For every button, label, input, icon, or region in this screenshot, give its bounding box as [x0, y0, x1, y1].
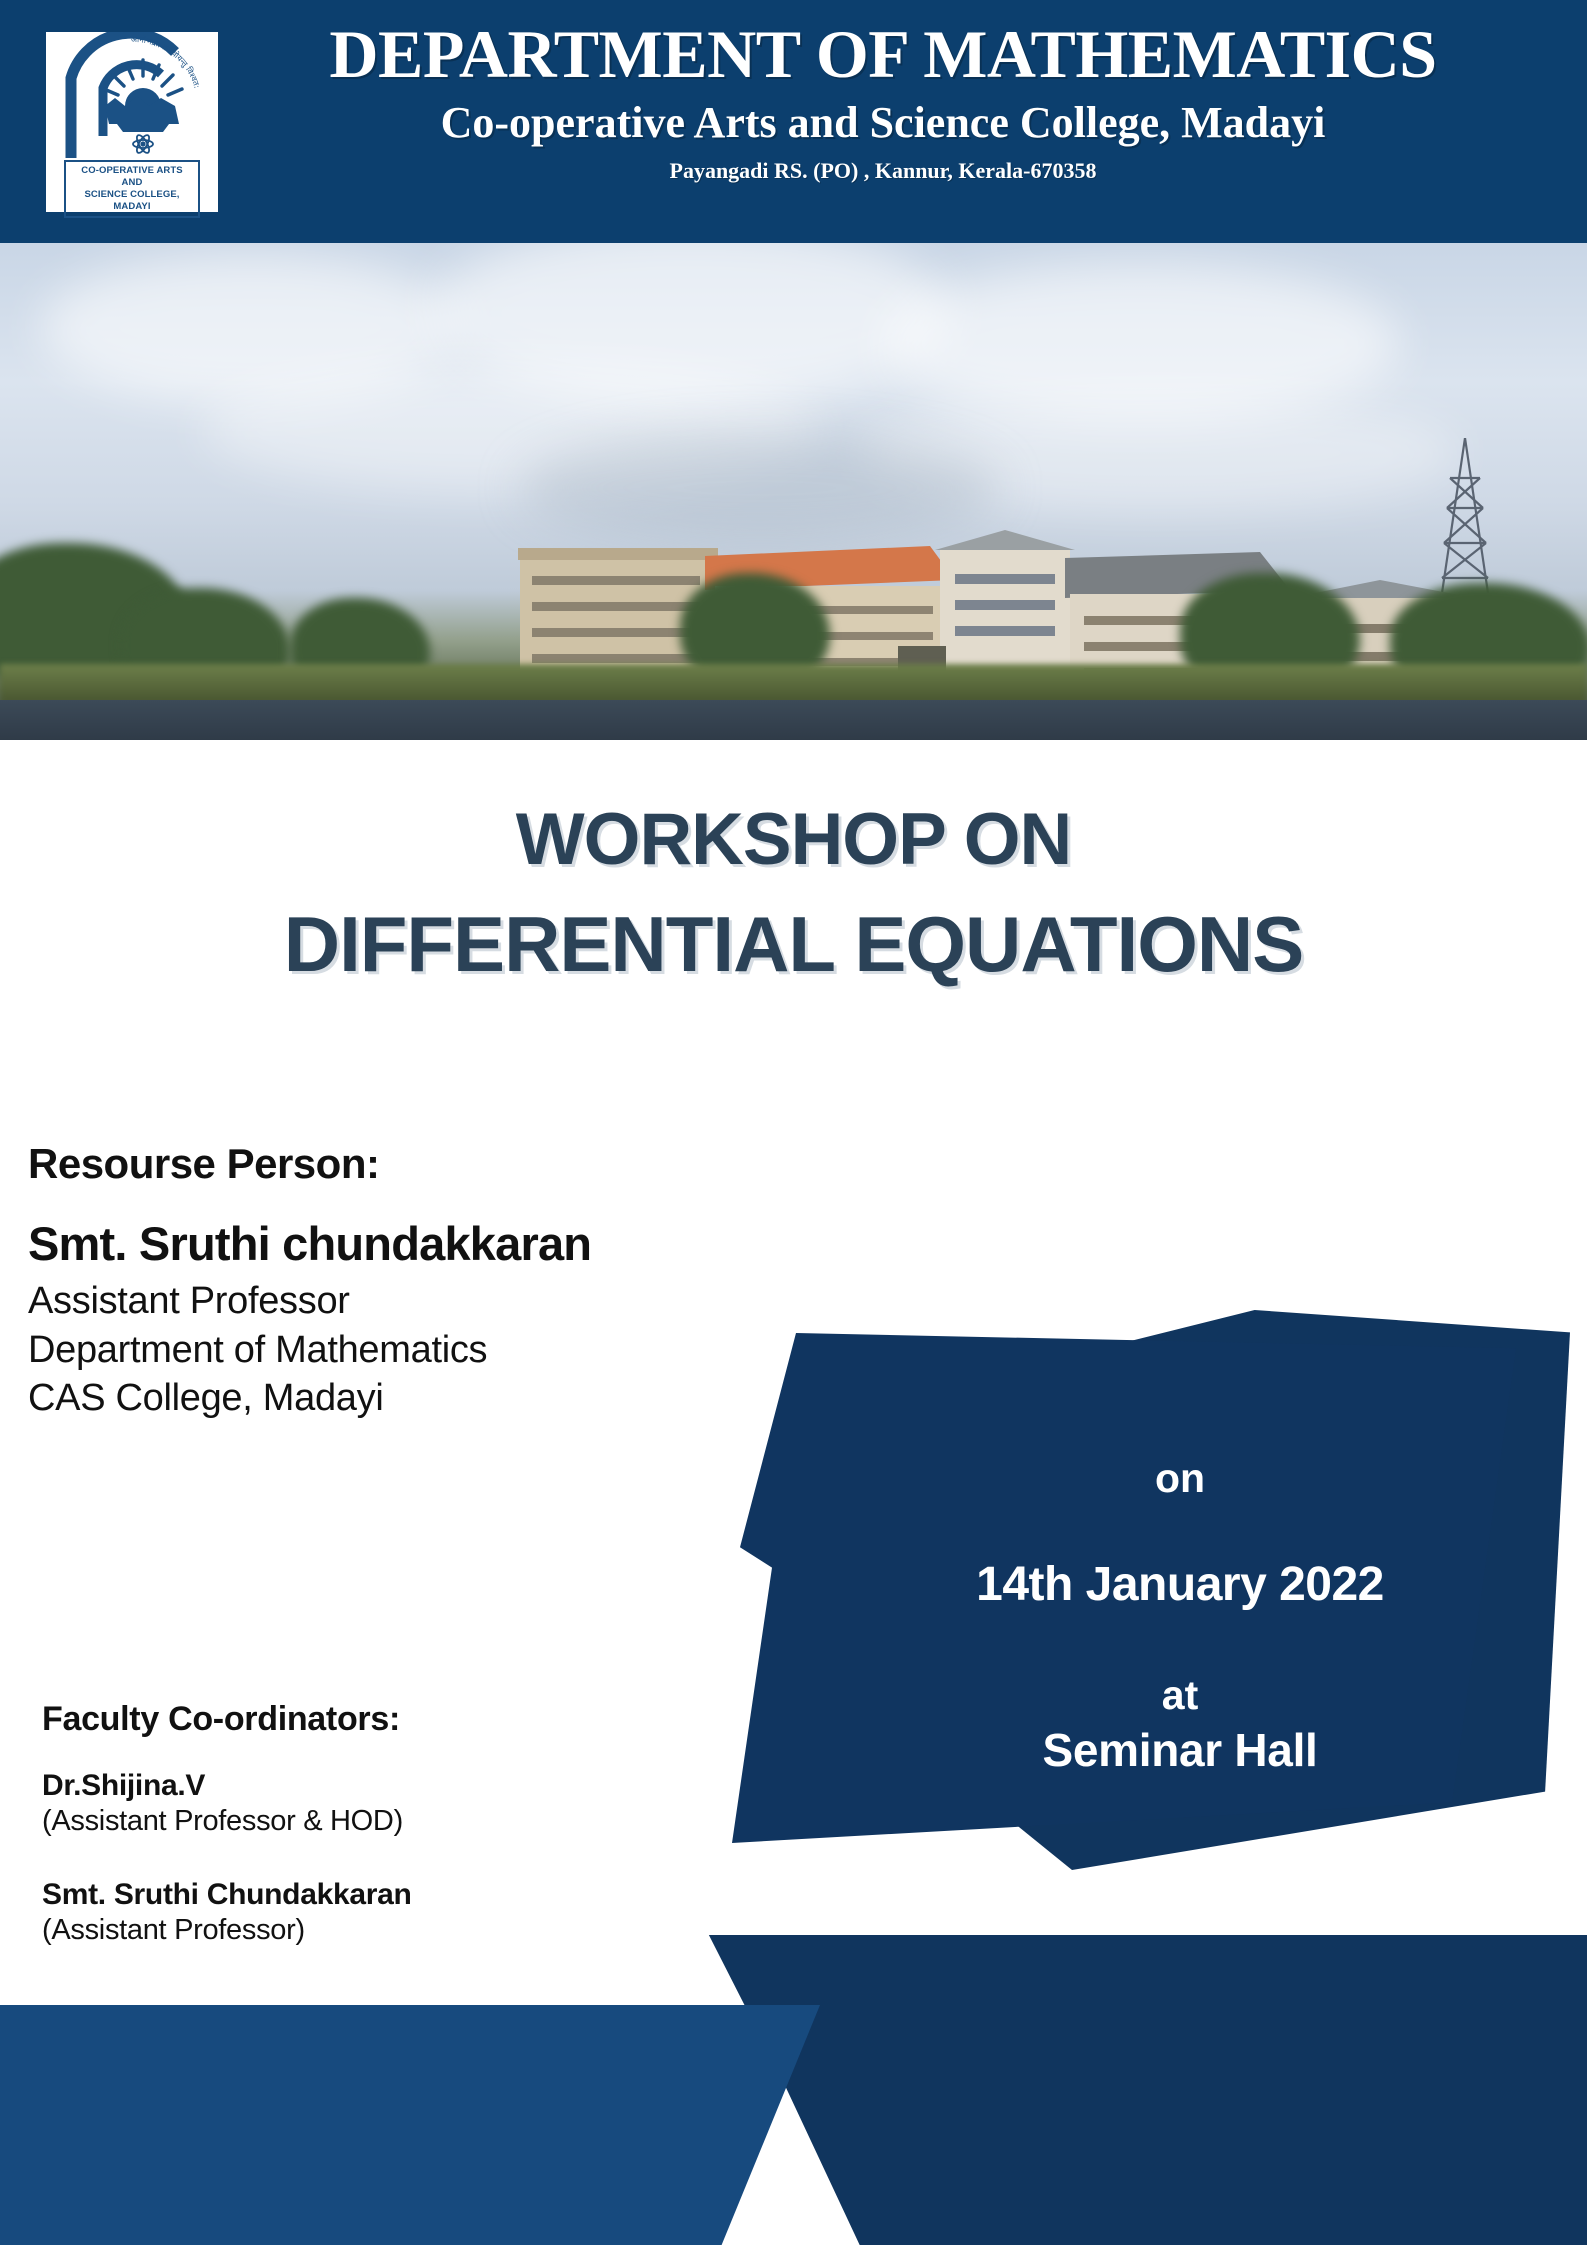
college-address: Payangadi RS. (PO) , Kannur, Kerala-6703…: [218, 158, 1548, 184]
college-name: Co-operative Arts and Science College, M…: [218, 95, 1548, 150]
resource-person-section: Resourse Person: Smt. Sruthi chundakkara…: [28, 1140, 888, 1423]
resource-person-name: Smt. Sruthi chundakkaran: [28, 1216, 888, 1271]
coordinator-name: Smt. Sruthi Chundakkaran: [42, 1878, 802, 1912]
department-title: DEPARTMENT OF MATHEMATICS: [218, 20, 1548, 89]
college-logo: आनोभद्रा: क्रतवोयन्तु विश्वत: CO-OPERATI…: [46, 32, 218, 212]
at-label: at: [830, 1672, 1530, 1719]
coordinator-entry: Smt. Sruthi Chundakkaran (Assistant Prof…: [42, 1878, 802, 1947]
campus-photo: [0, 243, 1587, 740]
logo-caption: CO-OPERATIVE ARTS ANDSCIENCE COLLEGE, MA…: [64, 160, 200, 218]
coordinator-name: Dr.Shijina.V: [42, 1769, 802, 1803]
resource-person-label: Resourse Person:: [28, 1140, 888, 1188]
event-date: 14th January 2022: [830, 1557, 1530, 1612]
coordinator-entry: Dr.Shijina.V (Assistant Professor & HOD): [42, 1769, 802, 1838]
event-venue: Seminar Hall: [830, 1723, 1530, 1777]
coordinator-role: (Assistant Professor): [42, 1914, 802, 1947]
footer-right-shape: [700, 1935, 1587, 2245]
coordinators-section: Faculty Co-ordinators: Dr.Shijina.V (Ass…: [42, 1700, 802, 1947]
poster-title: WORKSHOP ON DIFFERENTIAL EQUATIONS: [0, 790, 1587, 998]
resource-person-designation: Assistant Professor: [28, 1277, 888, 1326]
logo-emblem-icon: आनोभद्रा: क्रतवोयन्तु विश्वत:: [57, 32, 207, 160]
header-text-group: DEPARTMENT OF MATHEMATICS Co-operative A…: [218, 20, 1548, 184]
coordinators-label: Faculty Co-ordinators:: [42, 1700, 802, 1739]
cloud-shape: [520, 433, 1000, 543]
water-strip: [0, 700, 1587, 740]
footer-left-shape: [0, 2005, 820, 2245]
event-details: on 14th January 2022 at Seminar Hall: [830, 1455, 1530, 1777]
title-line-1: WORKSHOP ON: [0, 790, 1587, 891]
resource-person-institution: CAS College, Madayi: [28, 1374, 888, 1423]
resource-person-department: Department of Mathematics: [28, 1326, 888, 1375]
title-line-2: DIFFERENTIAL EQUATIONS: [0, 891, 1587, 999]
grass-strip: [0, 664, 1587, 704]
coordinator-role: (Assistant Professor & HOD): [42, 1805, 802, 1838]
page-header: आनोभद्रा: क्रतवोयन्तु विश्वत: CO-OPERATI…: [0, 0, 1587, 243]
on-label: on: [830, 1455, 1530, 1502]
